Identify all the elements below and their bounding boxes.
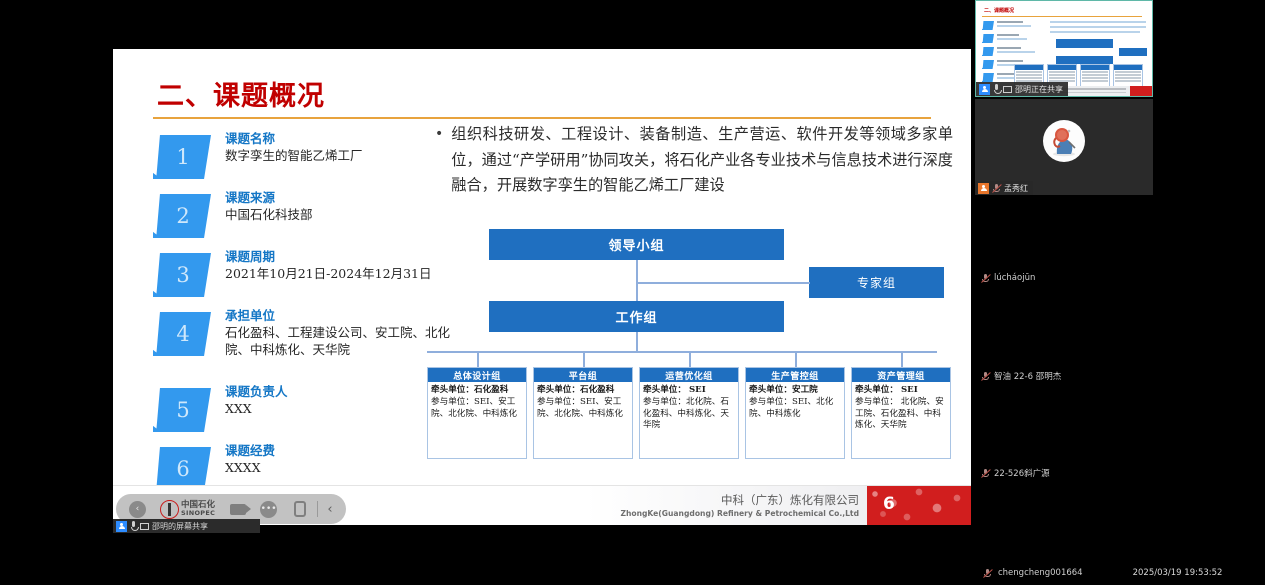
- microphone-muted-icon: [981, 468, 990, 478]
- number-banner-5: 5: [153, 388, 211, 432]
- participant-video-tile[interactable]: 孟秀红: [975, 99, 1153, 195]
- toolbar-divider: [317, 501, 318, 517]
- participant-name: 智油 22-6 邵明杰: [994, 370, 1061, 382]
- thumbnail-textline: [997, 38, 1027, 40]
- sharer-name: 邵明正在共享: [1015, 84, 1063, 95]
- title-divider: [153, 117, 931, 119]
- screen-root: 二、课题概况 1 课题名称 数字孪生的智能乙烯工厂 2: [0, 0, 1265, 585]
- screen-share-icon: [1003, 86, 1012, 93]
- group-title: 总体设计组: [428, 368, 526, 382]
- org-box-leading-group: 领导小组: [489, 229, 784, 260]
- participant-name: lúcháojūn: [994, 273, 1035, 283]
- footer-accent-block: 6: [867, 486, 971, 525]
- org-group-box: 平台组 牵头单位：石化盈科 参与单位：SEI、安工院、北化院、中科炼化: [533, 367, 633, 459]
- org-group-box: 资产管理组 牵头单位： SEI 参与单位： 北化院、安工院、石化盈科、中科炼化、…: [851, 367, 951, 459]
- group-participants: 参与单位：SEI、北化院、中科炼化: [749, 397, 841, 420]
- screen-share-status-strip: 邵明的屏幕共享: [113, 519, 260, 533]
- thumbnail-org-box: [1056, 56, 1113, 64]
- list-item[interactable]: lúcháojūn: [981, 273, 1035, 283]
- thumbnail-textline: [997, 60, 1023, 62]
- banner-number: 6: [174, 457, 189, 481]
- connector-line: [636, 282, 810, 284]
- connector-line: [901, 351, 903, 367]
- person-icon: [118, 523, 125, 530]
- participant-video-icon: [979, 84, 990, 95]
- connector-line: [477, 351, 479, 367]
- thumbnail-org-box: [1056, 39, 1113, 48]
- participant-name-label: 孟秀红: [975, 181, 1033, 195]
- org-group-box: 生产管控组 牵头单位：安工院 参与单位：SEI、北化院、中科炼化: [745, 367, 845, 459]
- microphone-icon: [130, 521, 137, 531]
- sinopec-logo-cn: 中国石化: [181, 501, 215, 509]
- thumbnail-org-box: [1119, 48, 1147, 56]
- group-lead-unit: 牵头单位：石化盈科: [537, 385, 629, 396]
- item-label: 课题名称: [225, 131, 465, 147]
- collapse-bar-button[interactable]: ‹: [320, 494, 340, 524]
- thumbnail-textline: [1050, 26, 1146, 28]
- microphone-icon: [993, 84, 1000, 94]
- banner-number: 4: [174, 322, 189, 346]
- banner-number: 1: [174, 145, 189, 169]
- person-icon: [981, 86, 988, 93]
- connector-line: [795, 351, 797, 367]
- item-value: 中国石化科技部: [225, 206, 465, 223]
- group-lead-unit: 牵头单位：安工院: [749, 385, 841, 396]
- connector-line: [636, 260, 638, 301]
- list-item[interactable]: 22-526斜广源: [981, 467, 1050, 479]
- participant-name: 22-526斜广源: [994, 467, 1050, 479]
- sinopec-mark-icon: [160, 500, 179, 519]
- person-icon: [980, 185, 987, 192]
- participant-video-icon: [978, 183, 989, 194]
- group-lead-unit: 牵头单位：石化盈科: [431, 385, 523, 396]
- group-participants: 参与单位： 北化院、安工院、石化盈科、中科炼化、天华院: [855, 397, 947, 431]
- shared-screen-region: 二、课题概况 1 课题名称 数字孪生的智能乙烯工厂 2: [0, 0, 975, 540]
- group-title: 平台组: [534, 368, 632, 382]
- ellipsis-icon: •••: [260, 501, 277, 518]
- thumbnail-textline: [997, 25, 1031, 27]
- connector-line: [427, 351, 937, 353]
- number-banner-2: 2: [153, 194, 211, 238]
- banner-number: 5: [174, 398, 189, 422]
- microphone-muted-icon: [992, 183, 1001, 193]
- group-participants: 参与单位：北化院、石化盈科、中科炼化、天华院: [643, 397, 735, 431]
- participant-name: 孟秀红: [1004, 183, 1028, 194]
- number-banner-1: 1: [153, 135, 211, 179]
- chevron-left-icon: ‹: [129, 501, 146, 518]
- bullet-icon: •: [435, 122, 443, 199]
- thumbnail-textline: [997, 21, 1023, 23]
- shared-screen-thumbnail-tile[interactable]: 二、课题概况: [975, 0, 1153, 97]
- group-title: 生产管控组: [746, 368, 844, 382]
- org-group-box: 总体设计组 牵头单位：石化盈科 参与单位：SEI、安工院、北化院、中科炼化: [427, 367, 527, 459]
- org-box-expert-group: 专家组: [809, 267, 944, 298]
- screen-share-icon: [140, 523, 149, 530]
- connector-line: [583, 351, 585, 367]
- thumbnail-sharer-label: 邵明正在共享: [976, 82, 1068, 96]
- banner-number: 2: [174, 204, 189, 228]
- org-box-working-group: 工作组: [489, 301, 784, 332]
- item-label: 课题来源: [225, 190, 465, 206]
- description-paragraph: • 组织科技研发、工程设计、装备制造、生产营运、软件开发等领域多家单位，通过“产…: [435, 122, 953, 199]
- footer-company-en: ZhongKe(Guangdong) Refinery & Petrochemi…: [620, 509, 859, 518]
- microphone-muted-icon: [983, 568, 992, 578]
- org-chart: 领导小组 专家组 工作组 总体设计组 牵头单位：石化盈科 参与单位：SEI、安工…: [409, 229, 954, 484]
- presentation-slide: 二、课题概况 1 课题名称 数字孪生的智能乙烯工厂 2: [113, 49, 971, 525]
- video-camera-icon: [230, 504, 246, 515]
- thumbnail-textline: [1050, 31, 1140, 33]
- connector-line: [636, 332, 638, 351]
- participant-video-icon: [116, 521, 127, 532]
- avatar-illustration-icon: [1047, 124, 1081, 158]
- thumbnail-banner: [982, 34, 994, 43]
- connector-line: [689, 351, 691, 367]
- pen-icon: [294, 501, 306, 517]
- pen-tool-button[interactable]: [284, 494, 315, 524]
- list-item: 1 课题名称 数字孪生的智能乙烯工厂: [143, 131, 463, 190]
- group-title: 运营优化组: [640, 368, 738, 382]
- thumbnail-textline: [997, 47, 1021, 49]
- footer-company-cn: 中科（广东）炼化有限公司: [620, 492, 859, 508]
- group-lead-unit: 牵头单位： SEI: [643, 385, 735, 396]
- list-item[interactable]: 智油 22-6 邵明杰: [981, 370, 1061, 382]
- chevron-left-icon: ‹: [327, 502, 332, 517]
- org-group-box: 运营优化组 牵头单位： SEI 参与单位：北化院、石化盈科、中科炼化、天华院: [639, 367, 739, 459]
- group-lead-unit: 牵头单位： SEI: [855, 385, 947, 396]
- page-number: 6: [883, 494, 895, 514]
- group-title: 资产管理组: [852, 368, 950, 382]
- group-participants: 参与单位：SEI、安工院、北化院、中科炼化: [537, 397, 629, 420]
- thumbnail-banner: [982, 47, 994, 56]
- meeting-timestamp: 2025/03/19 19:53:52: [1133, 568, 1223, 578]
- thumbnail-textline: [997, 77, 1015, 79]
- thumbnail-title: 二、课题概况: [984, 7, 1014, 14]
- item-value: 数字孪生的智能乙烯工厂: [225, 147, 465, 164]
- sinopec-logo-en: SINOPEC: [181, 509, 215, 517]
- thumbnail-divider: [982, 16, 1142, 17]
- participants-sidebar: 二、课题概况: [975, 0, 1265, 585]
- meeting-status-bar: chengcheng001664 2025/03/19 19:53:52: [975, 561, 1265, 585]
- thumbnail-banner: [982, 21, 994, 30]
- share-status-label: 邵明的屏幕共享: [152, 521, 208, 532]
- number-banner-3: 3: [153, 253, 211, 297]
- page-title: 二、课题概况: [157, 74, 325, 113]
- microphone-muted-icon: [981, 273, 990, 283]
- number-banner-4: 4: [153, 312, 211, 356]
- thumbnail-banner: [982, 60, 994, 69]
- paragraph-text: 组织科技研发、工程设计、装备制造、生产营运、软件开发等领域多家单位，通过“产学研…: [451, 122, 953, 199]
- banner-number: 3: [174, 263, 189, 287]
- group-participants: 参与单位：SEI、安工院、北化院、中科炼化: [431, 397, 523, 420]
- thumbnail-textline: [997, 51, 1035, 53]
- thumbnail-textline: [997, 34, 1019, 36]
- current-user-name: chengcheng001664: [998, 568, 1083, 578]
- avatar: [1043, 120, 1085, 162]
- microphone-muted-icon: [981, 371, 990, 381]
- thumbnail-banner: [982, 73, 994, 82]
- thumbnail-textline: [1050, 21, 1146, 23]
